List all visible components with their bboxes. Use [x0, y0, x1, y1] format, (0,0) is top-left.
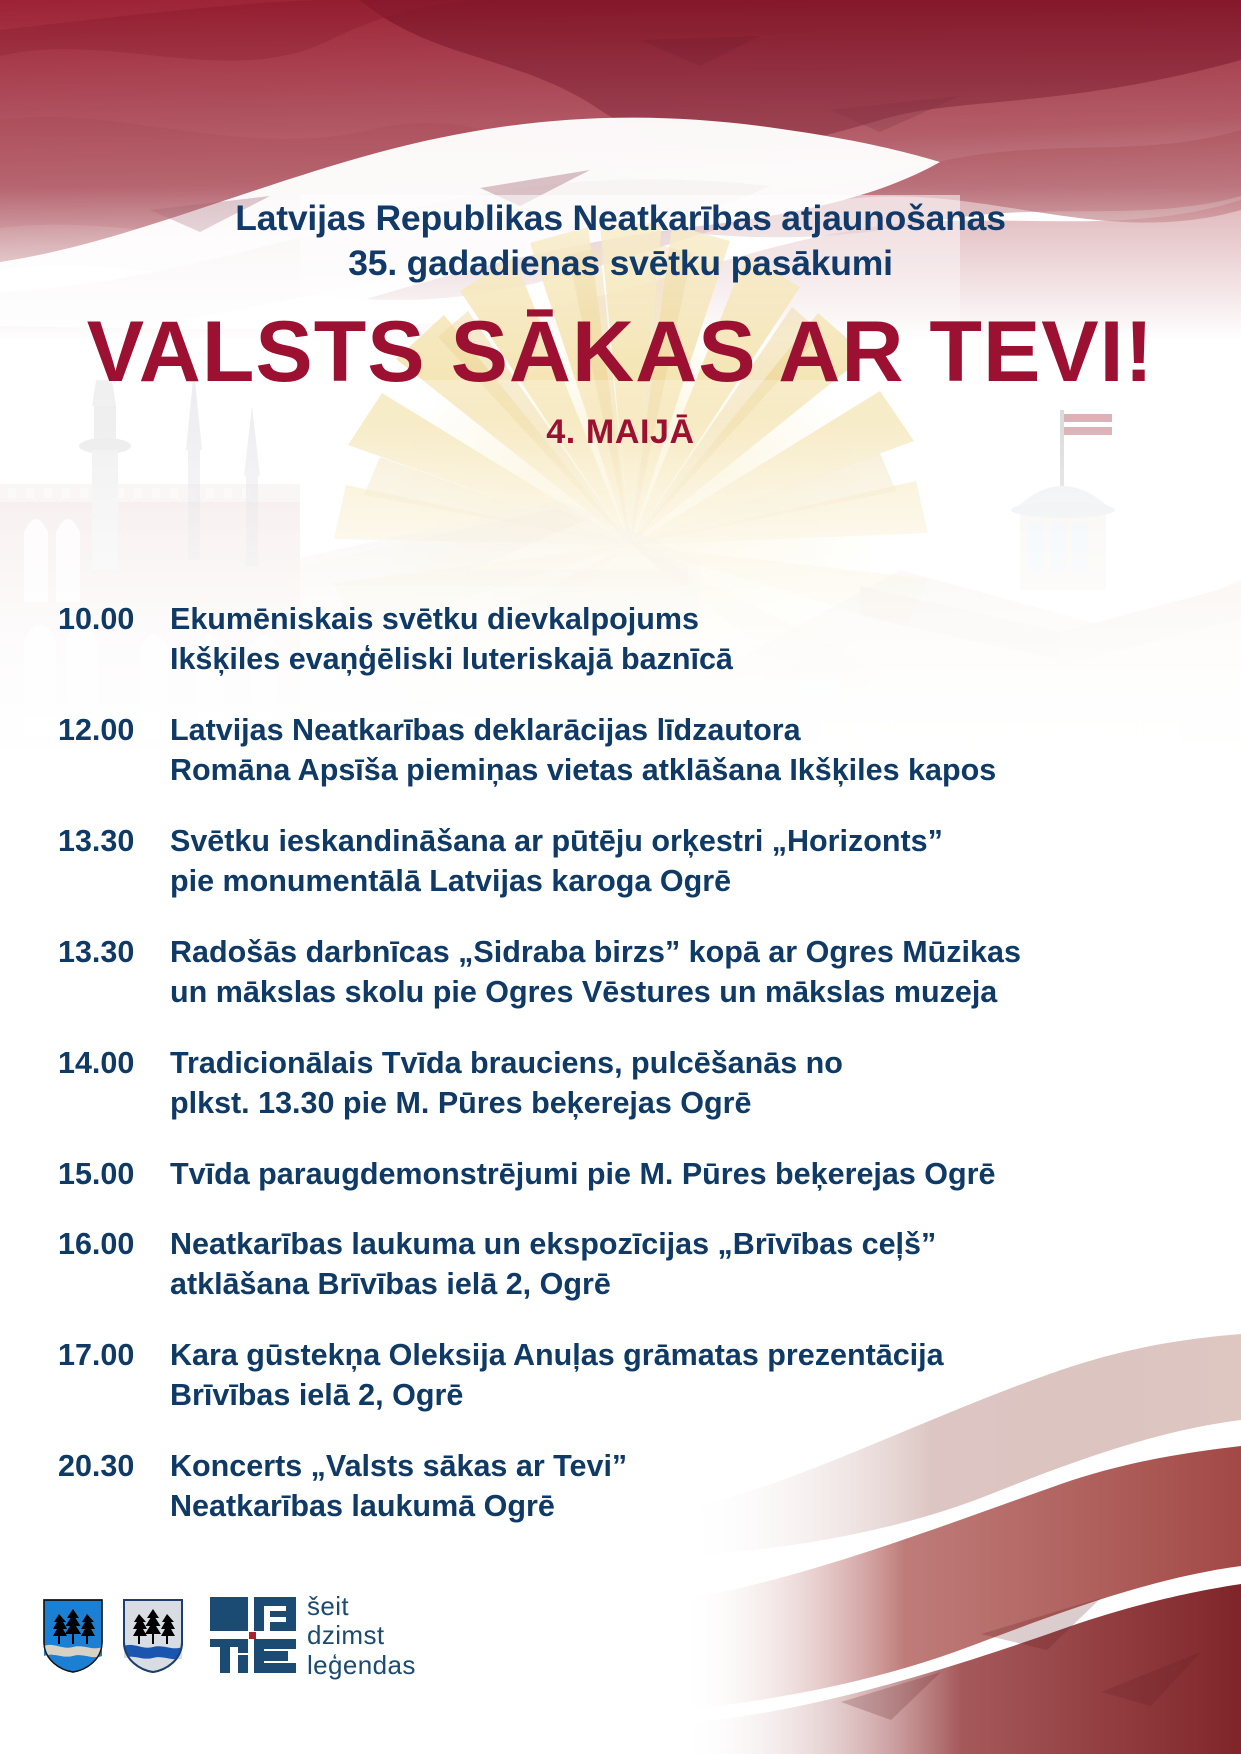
schedule-item-description: Tradicionālais Tvīda brauciens, pulcēšan…	[156, 1044, 1188, 1124]
schedule-item-time: 16.00	[58, 1225, 156, 1265]
event-date: 4. MAIJĀ	[0, 413, 1241, 452]
schedule-item: 10.00 Ekumēniskais svētku dievkalpojums …	[58, 600, 1188, 680]
schedule-item-time: 13.30	[58, 822, 156, 862]
schedule-item-line: Romāna Apsīša piemiņas vietas atklāšana …	[170, 751, 1188, 791]
poster-header: Latvijas Republikas Neatkarības atjaunoš…	[0, 196, 1241, 452]
tagline-line-3: leģendas	[307, 1651, 416, 1680]
schedule-item: 20.30 Koncerts „Valsts sākas ar Tevi” Ne…	[58, 1447, 1188, 1527]
schedule-item: 12.00 Latvijas Neatkarības deklarācijas …	[58, 711, 1188, 791]
schedule-item-line: Neatkarības laukuma un ekspozīcijas „Brī…	[170, 1225, 1188, 1265]
event-schedule-list: 10.00 Ekumēniskais svētku dievkalpojums …	[58, 600, 1188, 1527]
logo-bar: šeit dzimst leģendas	[42, 1592, 416, 1680]
schedule-item: 13.30 Radošās darbnīcas „Sidraba birzs” …	[58, 933, 1188, 1013]
schedule-item-line: Koncerts „Valsts sākas ar Tevi”	[170, 1447, 1188, 1487]
ikskile-coat-of-arms	[42, 1598, 104, 1674]
schedule-item-line: Svētku ieskandināšana ar pūtēju orķestri…	[170, 822, 1188, 862]
schedule-item-line: Kara gūstekņa Oleksija Anuļas grāmatas p…	[170, 1336, 1188, 1376]
schedule-item: 14.00 Tradicionālais Tvīda brauciens, pu…	[58, 1044, 1188, 1124]
ogre-coat-of-arms	[122, 1598, 184, 1674]
schedule-item-line: Ekumēniskais svētku dievkalpojums	[170, 600, 1188, 640]
tagline-line-1: šeit	[307, 1592, 416, 1621]
schedule-item-time: 13.30	[58, 933, 156, 973]
schedule-item-description: Latvijas Neatkarības deklarācijas līdzau…	[156, 711, 1188, 791]
schedule-item-time: 17.00	[58, 1336, 156, 1376]
schedule-item-line: Latvijas Neatkarības deklarācijas līdzau…	[170, 711, 1188, 751]
schedule-item-line: pie monumentālā Latvijas karoga Ogrē	[170, 862, 1188, 902]
schedule-item-description: Kara gūstekņa Oleksija Anuļas grāmatas p…	[156, 1336, 1188, 1416]
tagline-line-2: dzimst	[307, 1621, 416, 1650]
ogre-tagline: šeit dzimst leģendas	[307, 1592, 416, 1680]
schedule-item-line: Tvīda paraugdemonstrējumi pie M. Pūres b…	[170, 1155, 1188, 1195]
schedule-item-time: 12.00	[58, 711, 156, 751]
page-title: VALSTS SĀKAS AR TEVI!	[0, 309, 1241, 395]
schedule-item-line: un mākslas skolu pie Ogres Vēstures un m…	[170, 973, 1188, 1013]
schedule-item-time: 10.00	[58, 600, 156, 640]
schedule-item-description: Koncerts „Valsts sākas ar Tevi” Neatkarī…	[156, 1447, 1188, 1527]
schedule-item-time: 15.00	[58, 1155, 156, 1195]
schedule-item: 17.00 Kara gūstekņa Oleksija Anuļas grām…	[58, 1336, 1188, 1416]
schedule-item-description: Radošās darbnīcas „Sidraba birzs” kopā a…	[156, 933, 1188, 1013]
ogre-monogram-icon	[210, 1597, 296, 1675]
schedule-item-line: Brīvības ielā 2, Ogrē	[170, 1376, 1188, 1416]
schedule-item-description: Neatkarības laukuma un ekspozīcijas „Brī…	[156, 1225, 1188, 1305]
schedule-item-line: atklāšana Brīvības ielā 2, Ogrē	[170, 1265, 1188, 1305]
schedule-item-line: Neatkarības laukumā Ogrē	[170, 1487, 1188, 1527]
schedule-item-line: Radošās darbnīcas „Sidraba birzs” kopā a…	[170, 933, 1188, 973]
schedule-item-line: plkst. 13.30 pie M. Pūres beķerejas Ogrē	[170, 1084, 1188, 1124]
schedule-item: 16.00 Neatkarības laukuma un ekspozīcija…	[58, 1225, 1188, 1305]
schedule-item-description: Tvīda paraugdemonstrējumi pie M. Pūres b…	[156, 1155, 1188, 1195]
schedule-item: 13.30 Svētku ieskandināšana ar pūtēju or…	[58, 822, 1188, 902]
schedule-item-description: Ekumēniskais svētku dievkalpojums Ikšķil…	[156, 600, 1188, 680]
kicker-line-1: Latvijas Republikas Neatkarības atjaunoš…	[0, 196, 1241, 241]
schedule-item-time: 20.30	[58, 1447, 156, 1487]
schedule-item-line: Tradicionālais Tvīda brauciens, pulcēšan…	[170, 1044, 1188, 1084]
poster-root: Latvijas Republikas Neatkarības atjaunoš…	[0, 0, 1241, 1754]
schedule-item-line: Ikšķiles evaņģēliski luteriskajā baznīcā	[170, 640, 1188, 680]
schedule-item: 15.00 Tvīda paraugdemonstrējumi pie M. P…	[58, 1155, 1188, 1195]
kicker-line-2: 35. gadadienas svētku pasākumi	[0, 241, 1241, 286]
schedule-item-time: 14.00	[58, 1044, 156, 1084]
schedule-item-description: Svētku ieskandināšana ar pūtēju orķestri…	[156, 822, 1188, 902]
ogre-brand-logo: šeit dzimst leģendas	[210, 1592, 416, 1680]
